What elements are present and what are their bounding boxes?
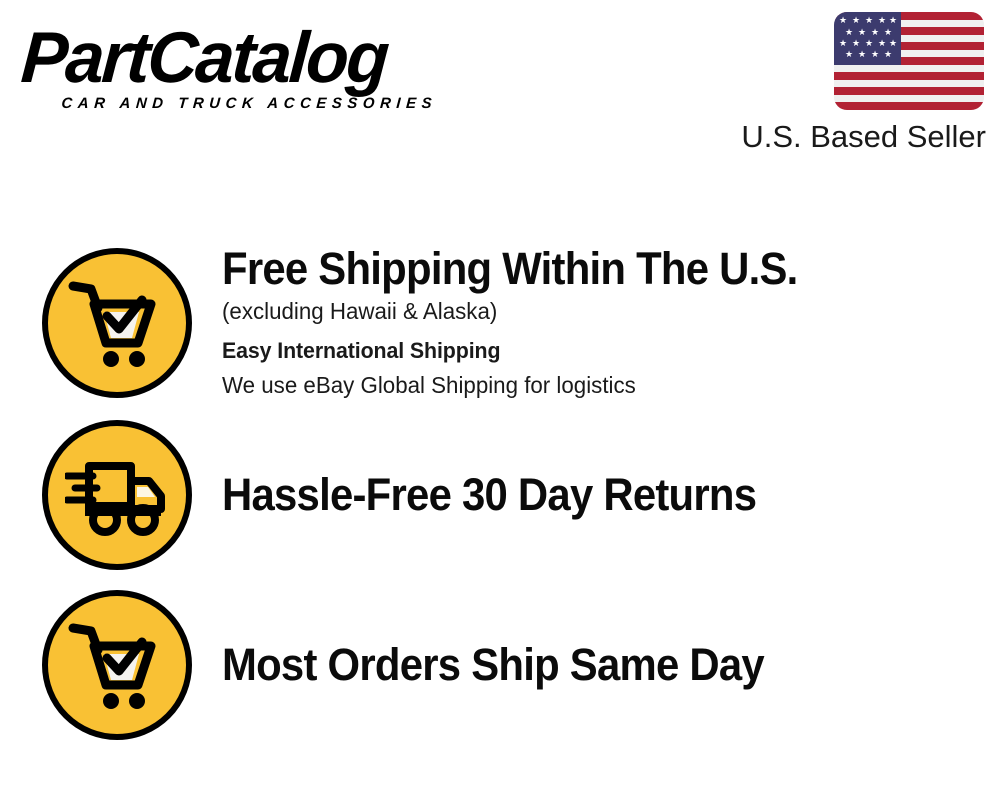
feature-text: Most Orders Ship Same Day: [222, 640, 1000, 690]
feature-title: Free Shipping Within The U.S.: [222, 244, 927, 294]
brand-tagline: CAR AND TRUCK ACCESSORIES: [61, 96, 494, 112]
us-flag-icon: ★ ★ ★ ★ ★ ★ ★ ★ ★ ★ ★ ★ ★ ★ ★ ★ ★ ★: [834, 12, 984, 110]
feature-subtitle: (excluding Hawaii & Alaska): [222, 294, 957, 328]
feature-text: Free Shipping Within The U.S. (excluding…: [222, 244, 1000, 402]
feature-text: Hassle-Free 30 Day Returns: [222, 470, 1000, 520]
feature-row: Free Shipping Within The U.S. (excluding…: [0, 248, 1000, 398]
shopping-cart-check-icon: [42, 248, 192, 398]
feature-subtitle-detail: We use eBay Global Shipping for logistic…: [222, 368, 957, 402]
feature-row: Hassle-Free 30 Day Returns: [0, 420, 1000, 570]
brand-wordmark: PartCatalog: [19, 22, 480, 94]
seller-label: U.S. Based Seller: [714, 119, 986, 155]
delivery-truck-icon: [42, 420, 192, 570]
feature-row: Most Orders Ship Same Day: [0, 590, 1000, 740]
feature-title: Most Orders Ship Same Day: [222, 640, 927, 690]
shopping-cart-check-icon: [42, 590, 192, 740]
feature-subtitle-strong: Easy International Shipping: [222, 334, 957, 368]
brand-logo[interactable]: PartCatalog CAR AND TRUCK ACCESSORIES: [24, 22, 494, 122]
us-based-seller-badge: ★ ★ ★ ★ ★ ★ ★ ★ ★ ★ ★ ★ ★ ★ ★ ★ ★ ★ U.S.…: [714, 12, 986, 155]
flag-canton: ★ ★ ★ ★ ★ ★ ★ ★ ★ ★ ★ ★ ★ ★ ★ ★ ★ ★: [834, 12, 901, 65]
feature-title: Hassle-Free 30 Day Returns: [222, 470, 927, 520]
page-header: PartCatalog CAR AND TRUCK ACCESSORIES ★ …: [0, 0, 1000, 180]
